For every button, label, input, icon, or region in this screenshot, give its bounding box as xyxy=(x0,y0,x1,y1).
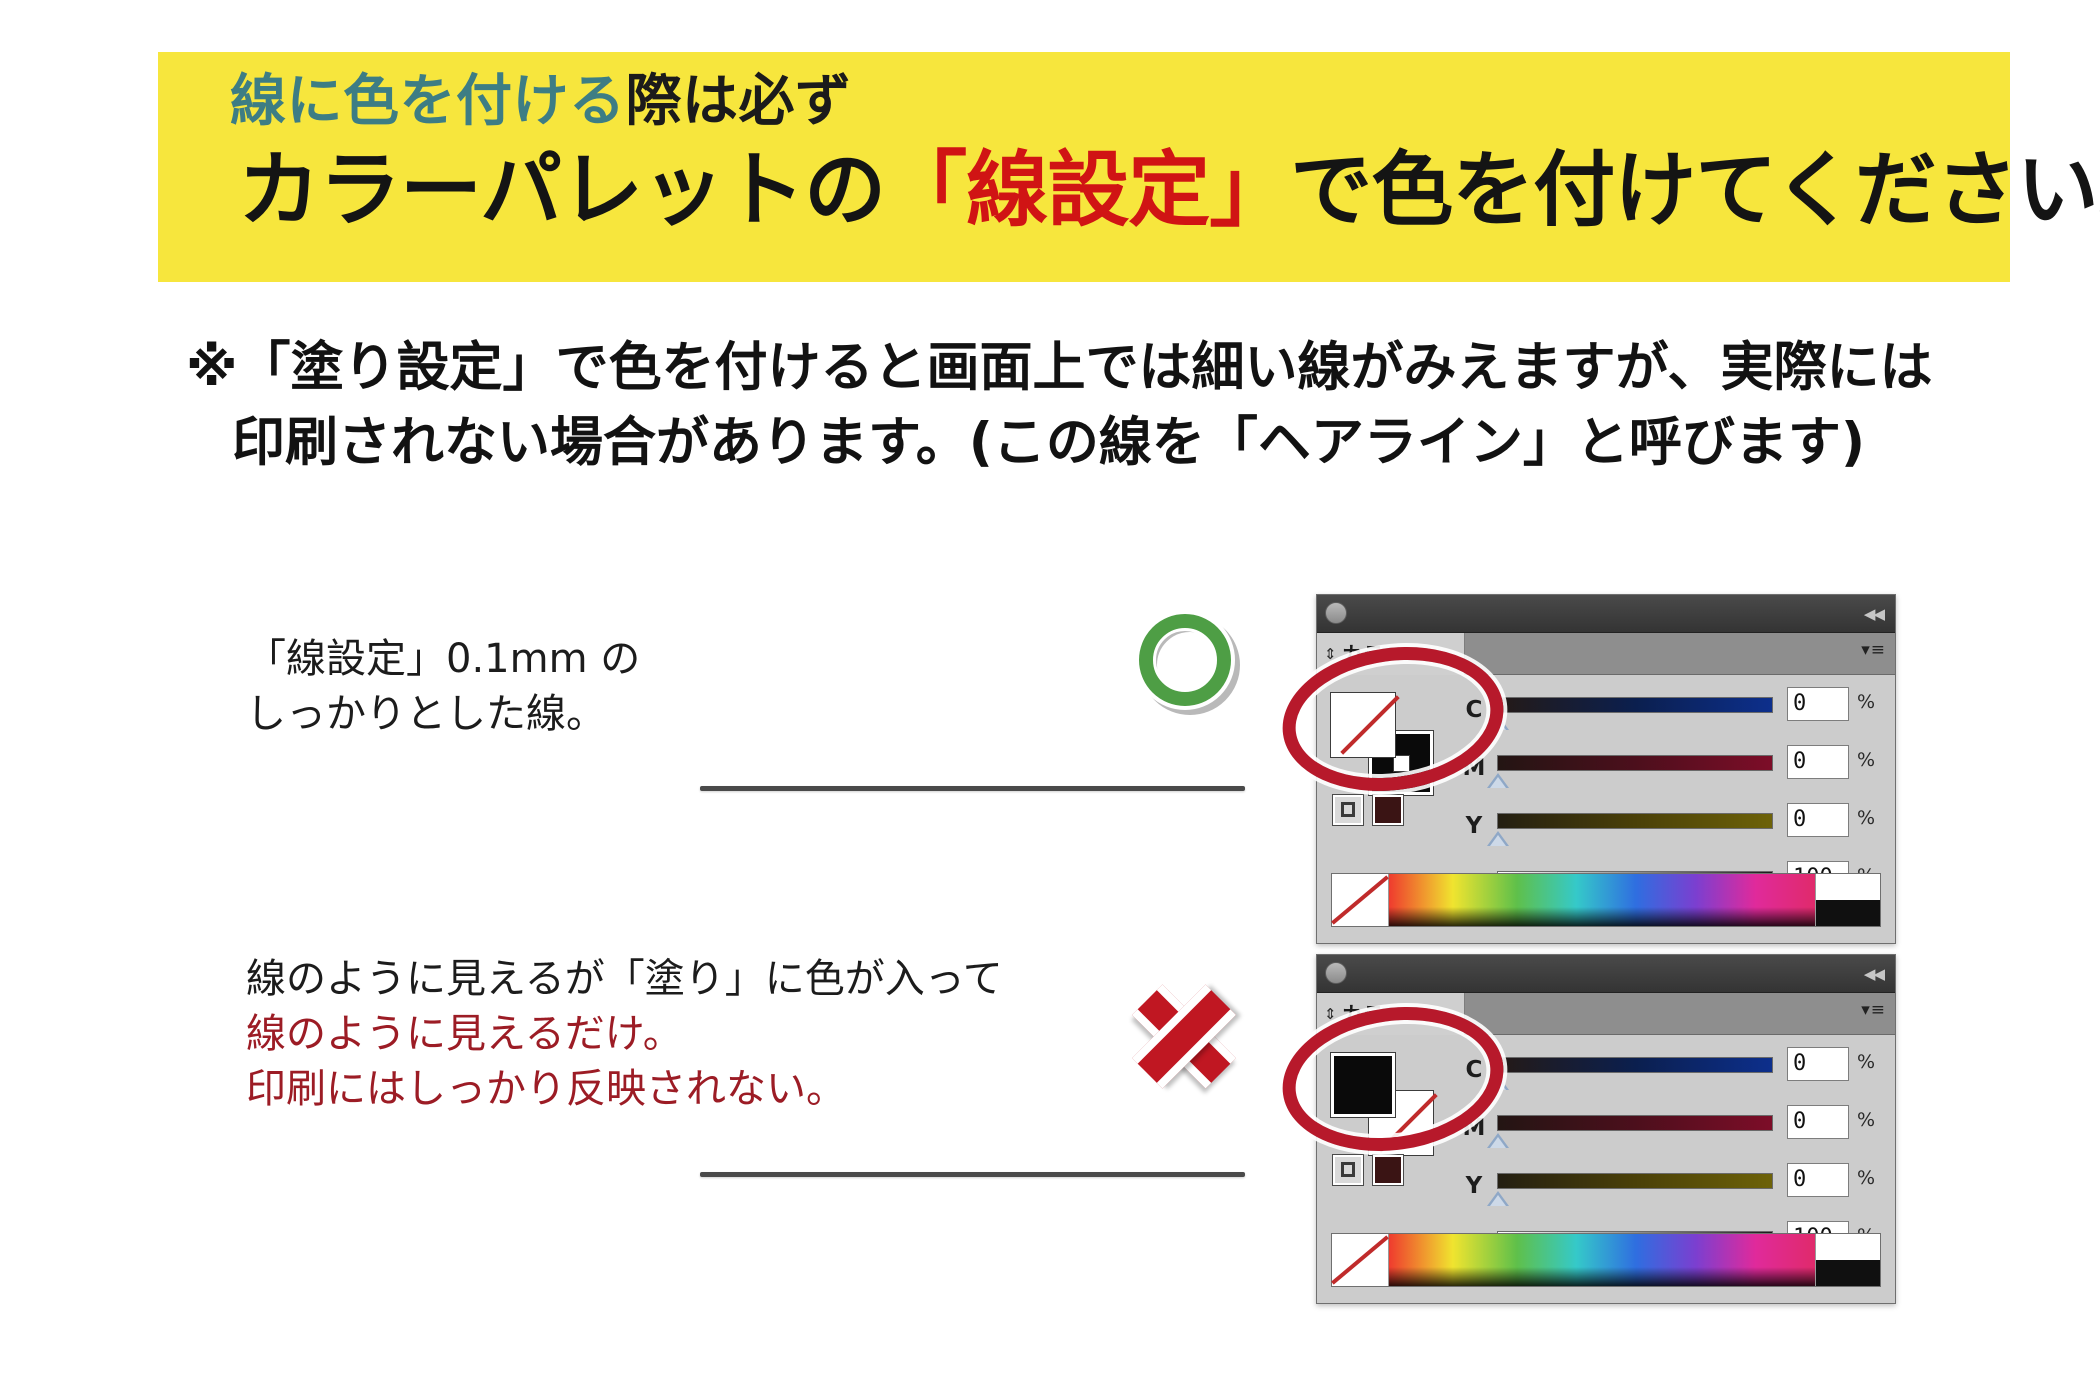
slider-m-label: M xyxy=(1461,1117,1487,1140)
slider-y-label: Y xyxy=(1461,815,1487,838)
panel-tabstrip: ⇕ カラー ▾≡ xyxy=(1317,993,1895,1035)
color-panel-stroke[interactable]: ◀◀ ⇕ カラー ▾≡ xyxy=(1316,594,1896,944)
ring-green-stroke xyxy=(1139,614,1231,706)
headline-line-2-black-b: で色を付けてください。 xyxy=(1290,143,2100,238)
slider-m-value[interactable]: 0 xyxy=(1787,745,1849,779)
last-color-icon[interactable] xyxy=(1373,1155,1403,1185)
tab-grip-icon: ⇕ xyxy=(1324,1007,1337,1022)
default-fill-stroke-icon[interactable] xyxy=(1333,1155,1363,1185)
headline-line-2: カラーパレットの「線設定」で色を付けてください。 xyxy=(238,150,2100,232)
slider-y-value[interactable]: 0 xyxy=(1787,1163,1849,1197)
spectrum-none-slash-icon xyxy=(1331,875,1389,924)
slider-c-label: C xyxy=(1461,1059,1487,1082)
tab-grip-icon: ⇕ xyxy=(1324,647,1337,662)
caption-ok-line-2: しっかりとした線。 xyxy=(246,687,640,742)
panel-titlebar[interactable]: ◀◀ xyxy=(1317,955,1895,993)
headline-line-2-black-a: カラーパレットの xyxy=(238,143,885,238)
slider-c[interactable]: C 0 % xyxy=(1461,1049,1865,1107)
note-line-2: 印刷されない場合があります。(この線を「ヘアライン」と呼びます) xyxy=(232,405,2016,480)
headline-banner: 線に色を付ける際は必ず カラーパレットの「線設定」で色を付けてください。 xyxy=(158,52,2010,282)
color-spectrum-bar[interactable] xyxy=(1331,1233,1881,1287)
note-paragraph: ※「塗り設定」で色を付けると画面上では細い線がみえますが、実際には 印刷されない… xyxy=(186,330,2016,481)
slider-y-label: Y xyxy=(1461,1175,1487,1198)
slider-y[interactable]: Y 0 % xyxy=(1461,1165,1865,1223)
caption-ng: 線のように見えるが「塗り」に色が入って 線のように見えるだけ。 印刷にはしっかり… xyxy=(246,952,1003,1118)
headline-line-1: 線に色を付ける際は必ず xyxy=(230,74,852,130)
slider-y-thumb[interactable] xyxy=(1487,831,1509,846)
slider-y-unit: % xyxy=(1857,809,1875,828)
slider-m-track[interactable] xyxy=(1497,755,1773,771)
slide-canvas: 線に色を付ける際は必ず カラーパレットの「線設定」で色を付けてください。 ※「塗… xyxy=(0,0,2100,1400)
spectrum-gradient[interactable] xyxy=(1389,874,1815,926)
slider-c-unit: % xyxy=(1857,1053,1875,1072)
headline-line-1-black: 際は必ず xyxy=(626,69,852,134)
collapse-panel-icon[interactable]: ◀◀ xyxy=(1864,607,1883,622)
note-line-1: ※「塗り設定」で色を付けると画面上では細い線がみえますが、実際には xyxy=(186,330,2016,405)
tab-color[interactable]: ⇕ カラー xyxy=(1317,993,1465,1035)
color-spectrum-bar[interactable] xyxy=(1331,873,1881,927)
headline-line-2-red: 「線設定」 xyxy=(885,143,1290,238)
spectrum-white-black[interactable] xyxy=(1815,874,1880,926)
slider-c[interactable]: C 0 % xyxy=(1461,689,1865,747)
color-panel-fill[interactable]: ◀◀ ⇕ カラー ▾≡ xyxy=(1316,954,1896,1304)
caption-ok: 「線設定」0.1mm の しっかりとした線。 xyxy=(246,632,640,742)
slider-m-value[interactable]: 0 xyxy=(1787,1105,1849,1139)
green-ring-ok-icon xyxy=(1135,610,1239,714)
slider-m-thumb[interactable] xyxy=(1487,1133,1509,1148)
last-color-icon[interactable] xyxy=(1373,795,1403,825)
spectrum-none-slash-icon xyxy=(1331,1235,1389,1284)
spectrum-black-swatch[interactable] xyxy=(1816,900,1880,926)
panel-dock-dot-icon[interactable] xyxy=(1325,962,1347,984)
swatch-mini-buttons[interactable] xyxy=(1331,1153,1451,1189)
fill-swatch[interactable] xyxy=(1331,1053,1395,1117)
slider-y-thumb[interactable] xyxy=(1487,1191,1509,1206)
tab-color-label: カラー xyxy=(1342,999,1405,1029)
panel-dock-dot-icon[interactable] xyxy=(1325,602,1347,624)
panel-menu-icon[interactable]: ▾≡ xyxy=(1861,1002,1886,1019)
slider-m-thumb[interactable] xyxy=(1487,773,1509,788)
slider-m-unit: % xyxy=(1857,751,1875,770)
slider-c-label: C xyxy=(1461,699,1487,722)
fill-swatch-color xyxy=(1334,1056,1392,1114)
red-x-ng-icon xyxy=(1128,972,1240,1084)
slider-c-thumb[interactable] xyxy=(1487,715,1509,730)
fill-swatch[interactable] xyxy=(1331,693,1395,757)
slider-c-value[interactable]: 0 xyxy=(1787,687,1849,721)
slider-m-unit: % xyxy=(1857,1111,1875,1130)
sample-stroke-line xyxy=(700,786,1245,791)
spectrum-none-swatch[interactable] xyxy=(1332,874,1389,926)
slider-c-track[interactable] xyxy=(1497,697,1773,713)
fill-swatch-color xyxy=(1334,696,1392,754)
slider-y-unit: % xyxy=(1857,1169,1875,1188)
slider-m[interactable]: M 0 % xyxy=(1461,1107,1865,1165)
tab-color[interactable]: ⇕ カラー xyxy=(1317,633,1465,675)
caption-ok-line-1: 「線設定」0.1mm の xyxy=(246,632,640,687)
spectrum-none-swatch[interactable] xyxy=(1332,1234,1389,1286)
sample-fill-line xyxy=(700,1172,1245,1177)
slider-y-track[interactable] xyxy=(1497,1173,1773,1189)
slider-c-track[interactable] xyxy=(1497,1057,1773,1073)
panel-menu-icon[interactable]: ▾≡ xyxy=(1861,642,1886,659)
swatch-mini-buttons[interactable] xyxy=(1331,793,1451,829)
caption-ng-line-1: 線のように見えるが「塗り」に色が入って xyxy=(246,952,1003,1007)
slider-c-value[interactable]: 0 xyxy=(1787,1047,1849,1081)
headline-line-1-teal: 線に色を付ける xyxy=(230,69,626,134)
slider-y[interactable]: Y 0 % xyxy=(1461,805,1865,863)
caption-ng-line-3: 印刷にはしっかり反映されない。 xyxy=(246,1062,1003,1117)
slider-m-track[interactable] xyxy=(1497,1115,1773,1131)
slider-m[interactable]: M 0 % xyxy=(1461,747,1865,805)
caption-ng-line-2: 線のように見えるだけ。 xyxy=(246,1007,1003,1062)
slider-m-label: M xyxy=(1461,757,1487,780)
panel-tabstrip: ⇕ カラー ▾≡ xyxy=(1317,633,1895,675)
panel-titlebar[interactable]: ◀◀ xyxy=(1317,595,1895,633)
tab-color-label: カラー xyxy=(1342,639,1405,669)
panel-body: C 0 % M 0 % Y 0 xyxy=(1317,1035,1895,1303)
slider-c-thumb[interactable] xyxy=(1487,1075,1509,1090)
slider-c-unit: % xyxy=(1857,693,1875,712)
spectrum-gradient[interactable] xyxy=(1389,1234,1815,1286)
spectrum-white-black[interactable] xyxy=(1815,1234,1880,1286)
spectrum-black-swatch[interactable] xyxy=(1816,1260,1880,1286)
spectrum-white-swatch[interactable] xyxy=(1816,874,1880,900)
panel-body: C 0 % M 0 % Y 0 xyxy=(1317,675,1895,943)
slider-y-track[interactable] xyxy=(1497,813,1773,829)
default-fill-stroke-icon[interactable] xyxy=(1333,795,1363,825)
collapse-panel-icon[interactable]: ◀◀ xyxy=(1864,967,1883,982)
spectrum-white-swatch[interactable] xyxy=(1816,1234,1880,1260)
slider-y-value[interactable]: 0 xyxy=(1787,803,1849,837)
